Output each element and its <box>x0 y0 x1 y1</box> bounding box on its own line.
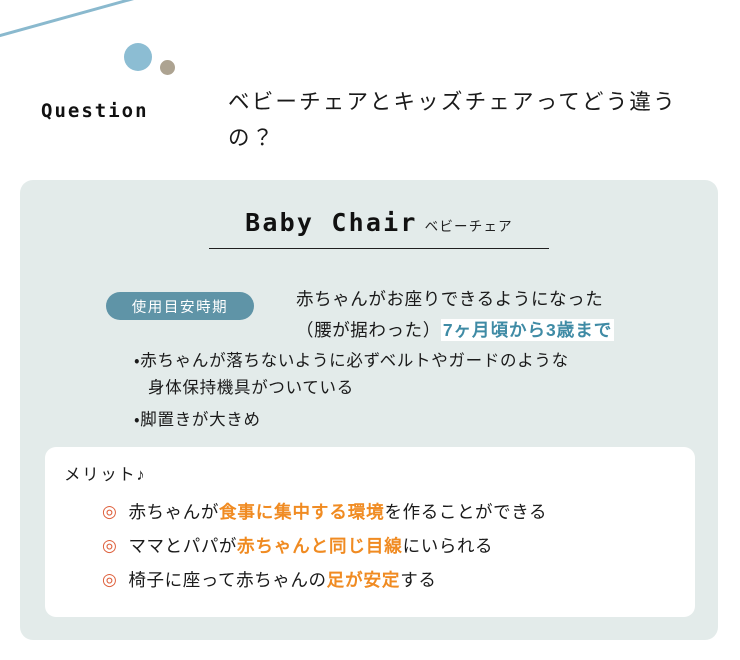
question-label: Question <box>41 100 149 122</box>
merit-item-suffix: を作ることができる <box>385 502 548 522</box>
feature-item-line2: 身体保持機具がついている <box>134 375 694 402</box>
decorative-diagonal-line <box>0 0 139 41</box>
decorative-circle-large-icon <box>124 43 152 71</box>
merit-item-emphasis: 足が安定 <box>327 570 401 590</box>
merit-item-prefix: 赤ちゃんが <box>128 502 219 522</box>
merit-list: ◎ 赤ちゃんが食事に集中する環境を作ることができる ◎ ママとパパが赤ちゃんと同… <box>102 495 682 597</box>
usage-period-line2-prefix: （腰が据わった） <box>296 320 441 340</box>
card-title: Baby Chairベビーチェア <box>209 208 549 249</box>
merit-title: メリット♪ <box>64 461 146 485</box>
merit-item-text: ママとパパが赤ちゃんと同じ目線にいられる <box>128 529 493 563</box>
merit-item-suffix: にいられる <box>403 536 494 556</box>
usage-period-highlight: 7ヶ月頃から3歳まで <box>441 319 614 341</box>
usage-period-line1: 赤ちゃんがお座りできるようになった <box>296 289 603 309</box>
question-text: ベビーチェアとキッズチェアってどう違うの？ <box>228 84 698 156</box>
merit-list-item: ◎ 赤ちゃんが食事に集中する環境を作ることができる <box>102 495 682 529</box>
feature-list: ・赤ちゃんが落ちないように必ずベルトやガードのような 身体保持機具がついている … <box>134 348 694 439</box>
feature-item-line1: ・赤ちゃんが落ちないように必ずベルトやガードのような <box>134 348 694 375</box>
merit-box: メリット♪ ◎ 赤ちゃんが食事に集中する環境を作ることができる ◎ ママとパパが… <box>45 447 695 617</box>
feature-list-item: ・赤ちゃんが落ちないように必ずベルトやガードのような 身体保持機具がついている <box>134 348 694 402</box>
card-title-english: Baby Chair <box>245 208 418 237</box>
usage-period-badge: 使用目安時期 <box>106 292 254 320</box>
baby-chair-card: Baby Chairベビーチェア 使用目安時期 赤ちゃんがお座りできるようになっ… <box>20 180 718 640</box>
merit-item-prefix: ママとパパが <box>128 536 237 556</box>
card-title-japanese: ベビーチェア <box>425 219 513 234</box>
decorative-circle-small-icon <box>160 60 175 75</box>
merit-item-text: 椅子に座って赤ちゃんの足が安定する <box>128 563 436 597</box>
question-header: Question ベビーチェアとキッズチェアってどう違うの？ <box>0 84 740 164</box>
merit-item-suffix: する <box>400 570 436 590</box>
merit-item-emphasis: 食事に集中する環境 <box>219 502 385 522</box>
merit-bullet-icon: ◎ <box>102 563 117 597</box>
merit-item-text: 赤ちゃんが食事に集中する環境を作ることができる <box>128 495 547 529</box>
merit-bullet-icon: ◎ <box>102 529 117 563</box>
merit-item-emphasis: 赤ちゃんと同じ目線 <box>237 536 403 556</box>
merit-list-item: ◎ 椅子に座って赤ちゃんの足が安定する <box>102 563 682 597</box>
merit-bullet-icon: ◎ <box>102 495 117 529</box>
merit-item-prefix: 椅子に座って赤ちゃんの <box>128 570 326 590</box>
usage-period-text: 赤ちゃんがお座りできるようになった （腰が据わった）7ヶ月頃から3歳まで <box>296 284 686 346</box>
feature-list-item: ・脚置きが大きめ <box>134 407 694 434</box>
merit-list-item: ◎ ママとパパが赤ちゃんと同じ目線にいられる <box>102 529 682 563</box>
feature-item-line1: ・脚置きが大きめ <box>134 407 694 434</box>
